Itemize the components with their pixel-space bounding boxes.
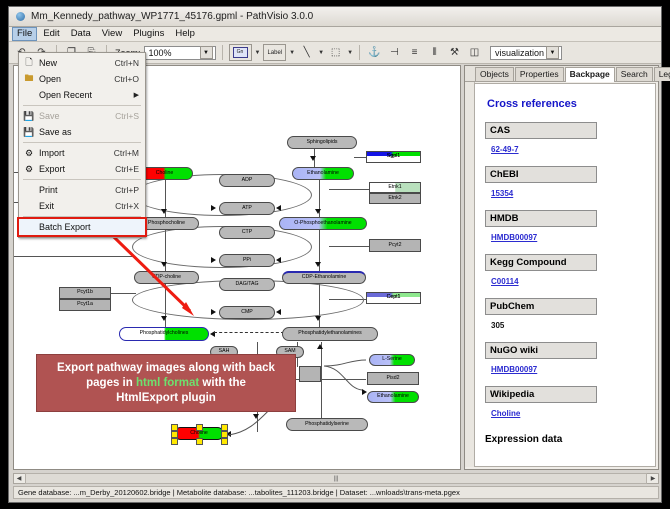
label-tool-button[interactable]: Label (263, 44, 286, 61)
menu-separator (23, 216, 141, 217)
menu-view[interactable]: View (97, 27, 127, 41)
scroll-right-icon[interactable]: ▶ (648, 474, 658, 483)
menu-item-label: Save as (39, 127, 139, 137)
chevron-right-icon: ▶ (134, 91, 145, 99)
scroll-left-icon[interactable]: ◀ (14, 474, 24, 483)
tab-search[interactable]: Search (616, 67, 653, 81)
xref-value-nugo[interactable]: HMDB00097 (491, 365, 537, 374)
xref-source-kegg: Kegg Compound (485, 254, 597, 271)
menu-item-accel: Ctrl+X (115, 201, 145, 211)
menu-item-open-recent[interactable]: Open Recent ▶ (19, 87, 145, 103)
menu-item-accel: Ctrl+P (115, 185, 145, 195)
application-window: Mm_Kennedy_pathway_WP1771_45176.gpml - P… (8, 6, 662, 503)
chevron-down-icon[interactable]: ▼ (289, 50, 295, 56)
save-as-icon: 💾 (19, 127, 39, 138)
xref-source-nugo: NuGO wiki (485, 342, 597, 359)
menu-item-export[interactable]: ⚙ Export Ctrl+E (19, 161, 145, 177)
menu-item-accel: Ctrl+E (115, 164, 145, 174)
menu-item-label: Import (39, 148, 114, 158)
align-cols-icon[interactable]: ⦀ (426, 44, 443, 61)
anchor-icon[interactable]: ⚓ (366, 44, 383, 61)
xref-value-cas[interactable]: 62-49-7 (491, 145, 519, 154)
panel-tab-row: Objects Properties Backpage Search Legen… (465, 66, 658, 82)
menu-file[interactable]: File (12, 27, 37, 41)
genenode-icon: Gn (233, 47, 248, 58)
menu-item-save-as[interactable]: 💾 Save as (19, 124, 145, 140)
xref-value-pubchem: 305 (491, 321, 504, 330)
menu-edit[interactable]: Edit (38, 27, 64, 41)
menu-item-label: Open Recent (39, 90, 134, 100)
menu-item-import[interactable]: ⚙ Import Ctrl+M (19, 145, 145, 161)
title-bar: Mm_Kennedy_pathway_WP1771_45176.gpml - P… (9, 7, 661, 27)
expression-data-heading: Expression data (485, 434, 645, 445)
menu-item-label: New (39, 58, 115, 68)
tab-backpage[interactable]: Backpage (565, 67, 615, 82)
xref-source-cas: CAS (485, 122, 597, 139)
status-text: Gene database: ...m_Derby_20120602.bridg… (18, 488, 460, 497)
toolbar-separator (222, 45, 223, 60)
shape-tool-icon[interactable]: ⬚ (327, 44, 344, 61)
datanode-tool-button[interactable]: Gn (229, 44, 252, 61)
horizontal-scrollbar[interactable]: ◀ ||| ▶ (13, 473, 659, 484)
save-disk-icon: 💾 (19, 111, 39, 122)
chevron-down-icon[interactable]: ▼ (546, 46, 559, 59)
label-tool-text: Label (267, 50, 282, 56)
menu-item-save: 💾 Save Ctrl+S (19, 108, 145, 124)
menu-separator (23, 142, 141, 143)
open-folder-icon: 🖿 (19, 71, 39, 87)
xref-source-chebi: ChEBI (485, 166, 597, 183)
annotation-callout: Export pathway images along with back pa… (36, 354, 296, 412)
menu-item-accel: Ctrl+M (114, 148, 145, 158)
visualization-value: visualization (495, 48, 544, 58)
callout-line2-b: with the (199, 377, 246, 389)
menu-item-open[interactable]: 🖿 Open Ctrl+O (19, 71, 145, 87)
xref-value-chebi[interactable]: 15354 (491, 189, 513, 198)
menu-plugins[interactable]: Plugins (128, 27, 169, 41)
chevron-down-icon[interactable]: ▼ (347, 50, 353, 56)
menu-item-accel: Ctrl+N (115, 58, 145, 68)
menu-item-accel: Ctrl+S (115, 111, 145, 121)
backpage-content: Cross references CAS 62-49-7 ChEBI 15354… (474, 83, 656, 467)
screenshot-root: Mm_Kennedy_pathway_WP1771_45176.gpml - P… (0, 0, 670, 509)
xref-source-wikipedia: Wikipedia (485, 386, 597, 403)
xref-value-hmdb[interactable]: HMDB00097 (491, 233, 537, 242)
scrollbar-thumb[interactable]: ||| (25, 473, 647, 484)
export-icon: ⚙ (19, 164, 39, 175)
menu-help[interactable]: Help (170, 27, 200, 41)
group-icon[interactable]: ⚒ (446, 44, 463, 61)
new-document-icon: 🗋 (19, 55, 39, 71)
app-icon (14, 10, 27, 23)
xref-value-wikipedia[interactable]: Choline (491, 409, 520, 418)
window-title: Mm_Kennedy_pathway_WP1771_45176.gpml - P… (31, 11, 313, 22)
menu-item-label: Print (39, 185, 115, 195)
xref-source-pubchem: PubChem (485, 298, 597, 315)
menu-item-new[interactable]: 🗋 New Ctrl+N (19, 55, 145, 71)
chevron-down-icon[interactable]: ▼ (318, 50, 324, 56)
stack-icon[interactable]: ◫ (466, 44, 483, 61)
menu-item-label: Save (39, 111, 115, 121)
menu-item-label: Exit (39, 201, 115, 211)
menu-separator (23, 105, 141, 106)
cross-references-heading: Cross references (487, 98, 645, 110)
zoom-combobox[interactable]: 100% ▼ (144, 46, 216, 60)
tab-legend[interactable]: Legend (654, 67, 670, 81)
tab-properties[interactable]: Properties (515, 67, 564, 81)
menu-separator (23, 179, 141, 180)
callout-line3: HtmlExport plugin (116, 391, 216, 406)
visualization-combobox[interactable]: visualization ▼ (490, 46, 562, 60)
callout-line2-a: pages in (86, 377, 136, 389)
xref-value-kegg[interactable]: C00114 (491, 277, 519, 286)
zoom-value: 100% (149, 48, 172, 58)
xref-source-hmdb: HMDB (485, 210, 597, 227)
side-panel: Objects Properties Backpage Search Legen… (464, 65, 659, 470)
chevron-down-icon[interactable]: ▼ (200, 46, 213, 59)
tab-objects[interactable]: Objects (475, 67, 514, 81)
menu-data[interactable]: Data (66, 27, 96, 41)
menu-bar: File Edit Data View Plugins Help (9, 27, 661, 42)
menu-item-accel: Ctrl+O (114, 74, 145, 84)
callout-highlight: html format (136, 377, 199, 389)
status-bar: Gene database: ...m_Derby_20120602.bridg… (13, 486, 659, 499)
menu-item-print[interactable]: Print Ctrl+P (19, 182, 145, 198)
menu-item-exit[interactable]: Exit Ctrl+X (19, 198, 145, 214)
import-icon: ⚙ (19, 148, 39, 159)
file-menu-dropdown[interactable]: 🗋 New Ctrl+N 🖿 Open Ctrl+O Open Recent ▶… (18, 52, 146, 238)
menu-item-label: Batch Export (39, 222, 145, 232)
menu-item-batch-export[interactable]: Batch Export (19, 219, 145, 235)
menu-item-label: Open (39, 74, 114, 84)
line-tool-icon[interactable]: ╲ (298, 44, 315, 61)
align-left-icon[interactable]: ⊣ (386, 44, 403, 61)
toolbar-separator (359, 45, 360, 60)
menu-item-label: Export (39, 164, 115, 174)
chevron-down-icon[interactable]: ▼ (255, 50, 261, 56)
callout-line2: pages in html format with the (86, 376, 246, 391)
align-rows-icon[interactable]: ≡ (406, 44, 423, 61)
callout-line1: Export pathway images along with back (57, 361, 275, 376)
